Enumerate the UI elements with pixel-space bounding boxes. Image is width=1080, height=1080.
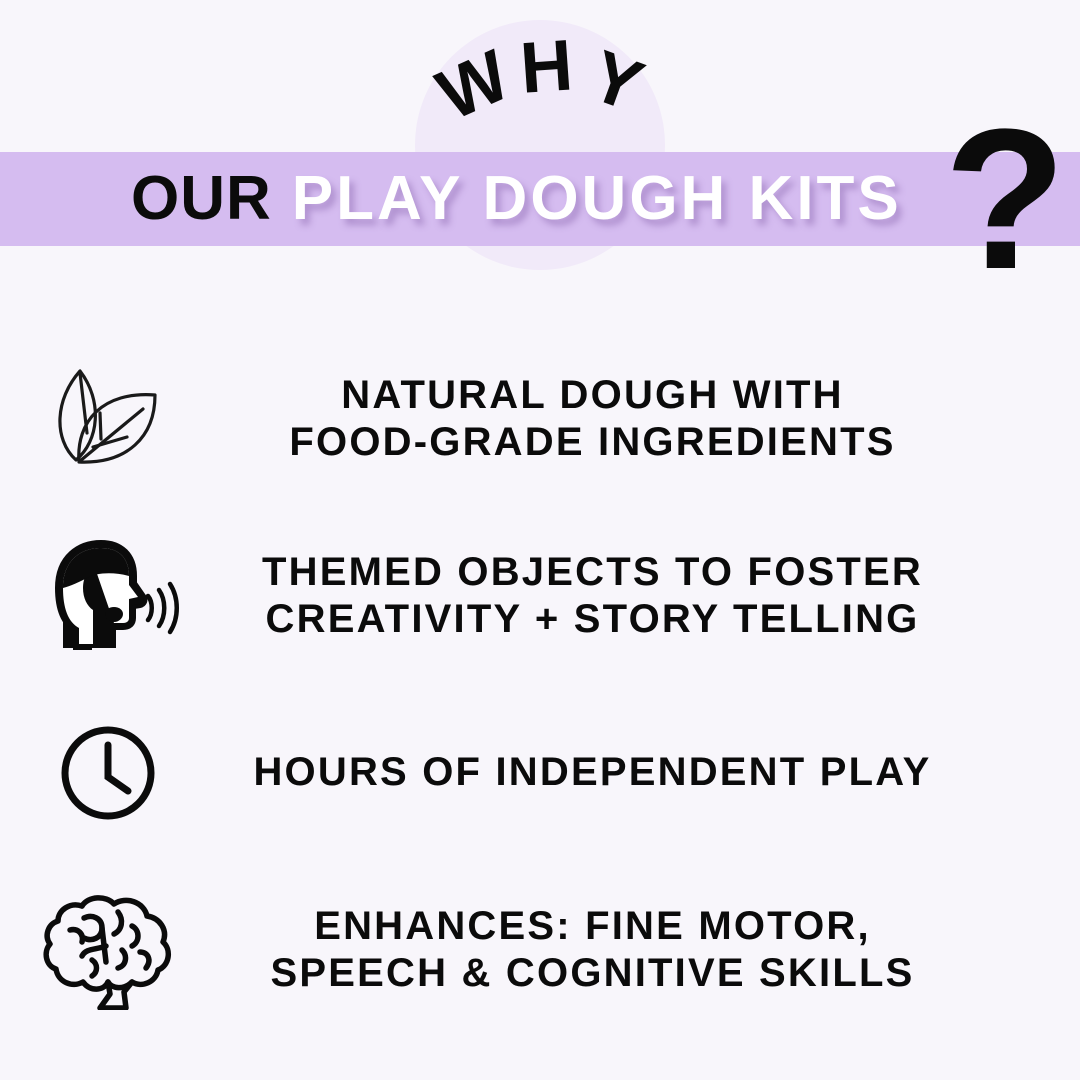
clock-icon	[0, 723, 215, 823]
brain-icon	[0, 890, 215, 1010]
feature-row: NATURAL DOUGH WITH FOOD-GRADE INGREDIENT…	[0, 330, 1080, 507]
headline-word-our: OUR	[131, 168, 272, 230]
speaking-head-icon	[0, 536, 215, 656]
feature-text: ENHANCES: FINE MOTOR, SPEECH & COGNITIVE…	[215, 903, 1080, 997]
headline-word-play-dough-kits: PLAY DOUGH KITS	[292, 168, 902, 230]
leaves-icon	[0, 361, 215, 476]
promo-graphic: W H Y OUR PLAY DOUGH KITS ? NATURAL DOUG…	[0, 0, 1080, 1080]
headline-banner-text: OUR PLAY DOUGH KITS	[0, 152, 1080, 246]
feature-text: NATURAL DOUGH WITH FOOD-GRADE INGREDIENT…	[215, 372, 1080, 466]
feature-row: ENHANCES: FINE MOTOR, SPEECH & COGNITIVE…	[0, 861, 1080, 1038]
feature-row: HOURS OF INDEPENDENT PLAY	[0, 684, 1080, 861]
question-mark: ?	[944, 100, 1066, 300]
feature-row: THEMED OBJECTS TO FOSTER CREATIVITY + ST…	[0, 507, 1080, 684]
feature-list: NATURAL DOUGH WITH FOOD-GRADE INGREDIENT…	[0, 330, 1080, 1038]
feature-text: THEMED OBJECTS TO FOSTER CREATIVITY + ST…	[215, 549, 1080, 643]
feature-text: HOURS OF INDEPENDENT PLAY	[215, 749, 1080, 796]
